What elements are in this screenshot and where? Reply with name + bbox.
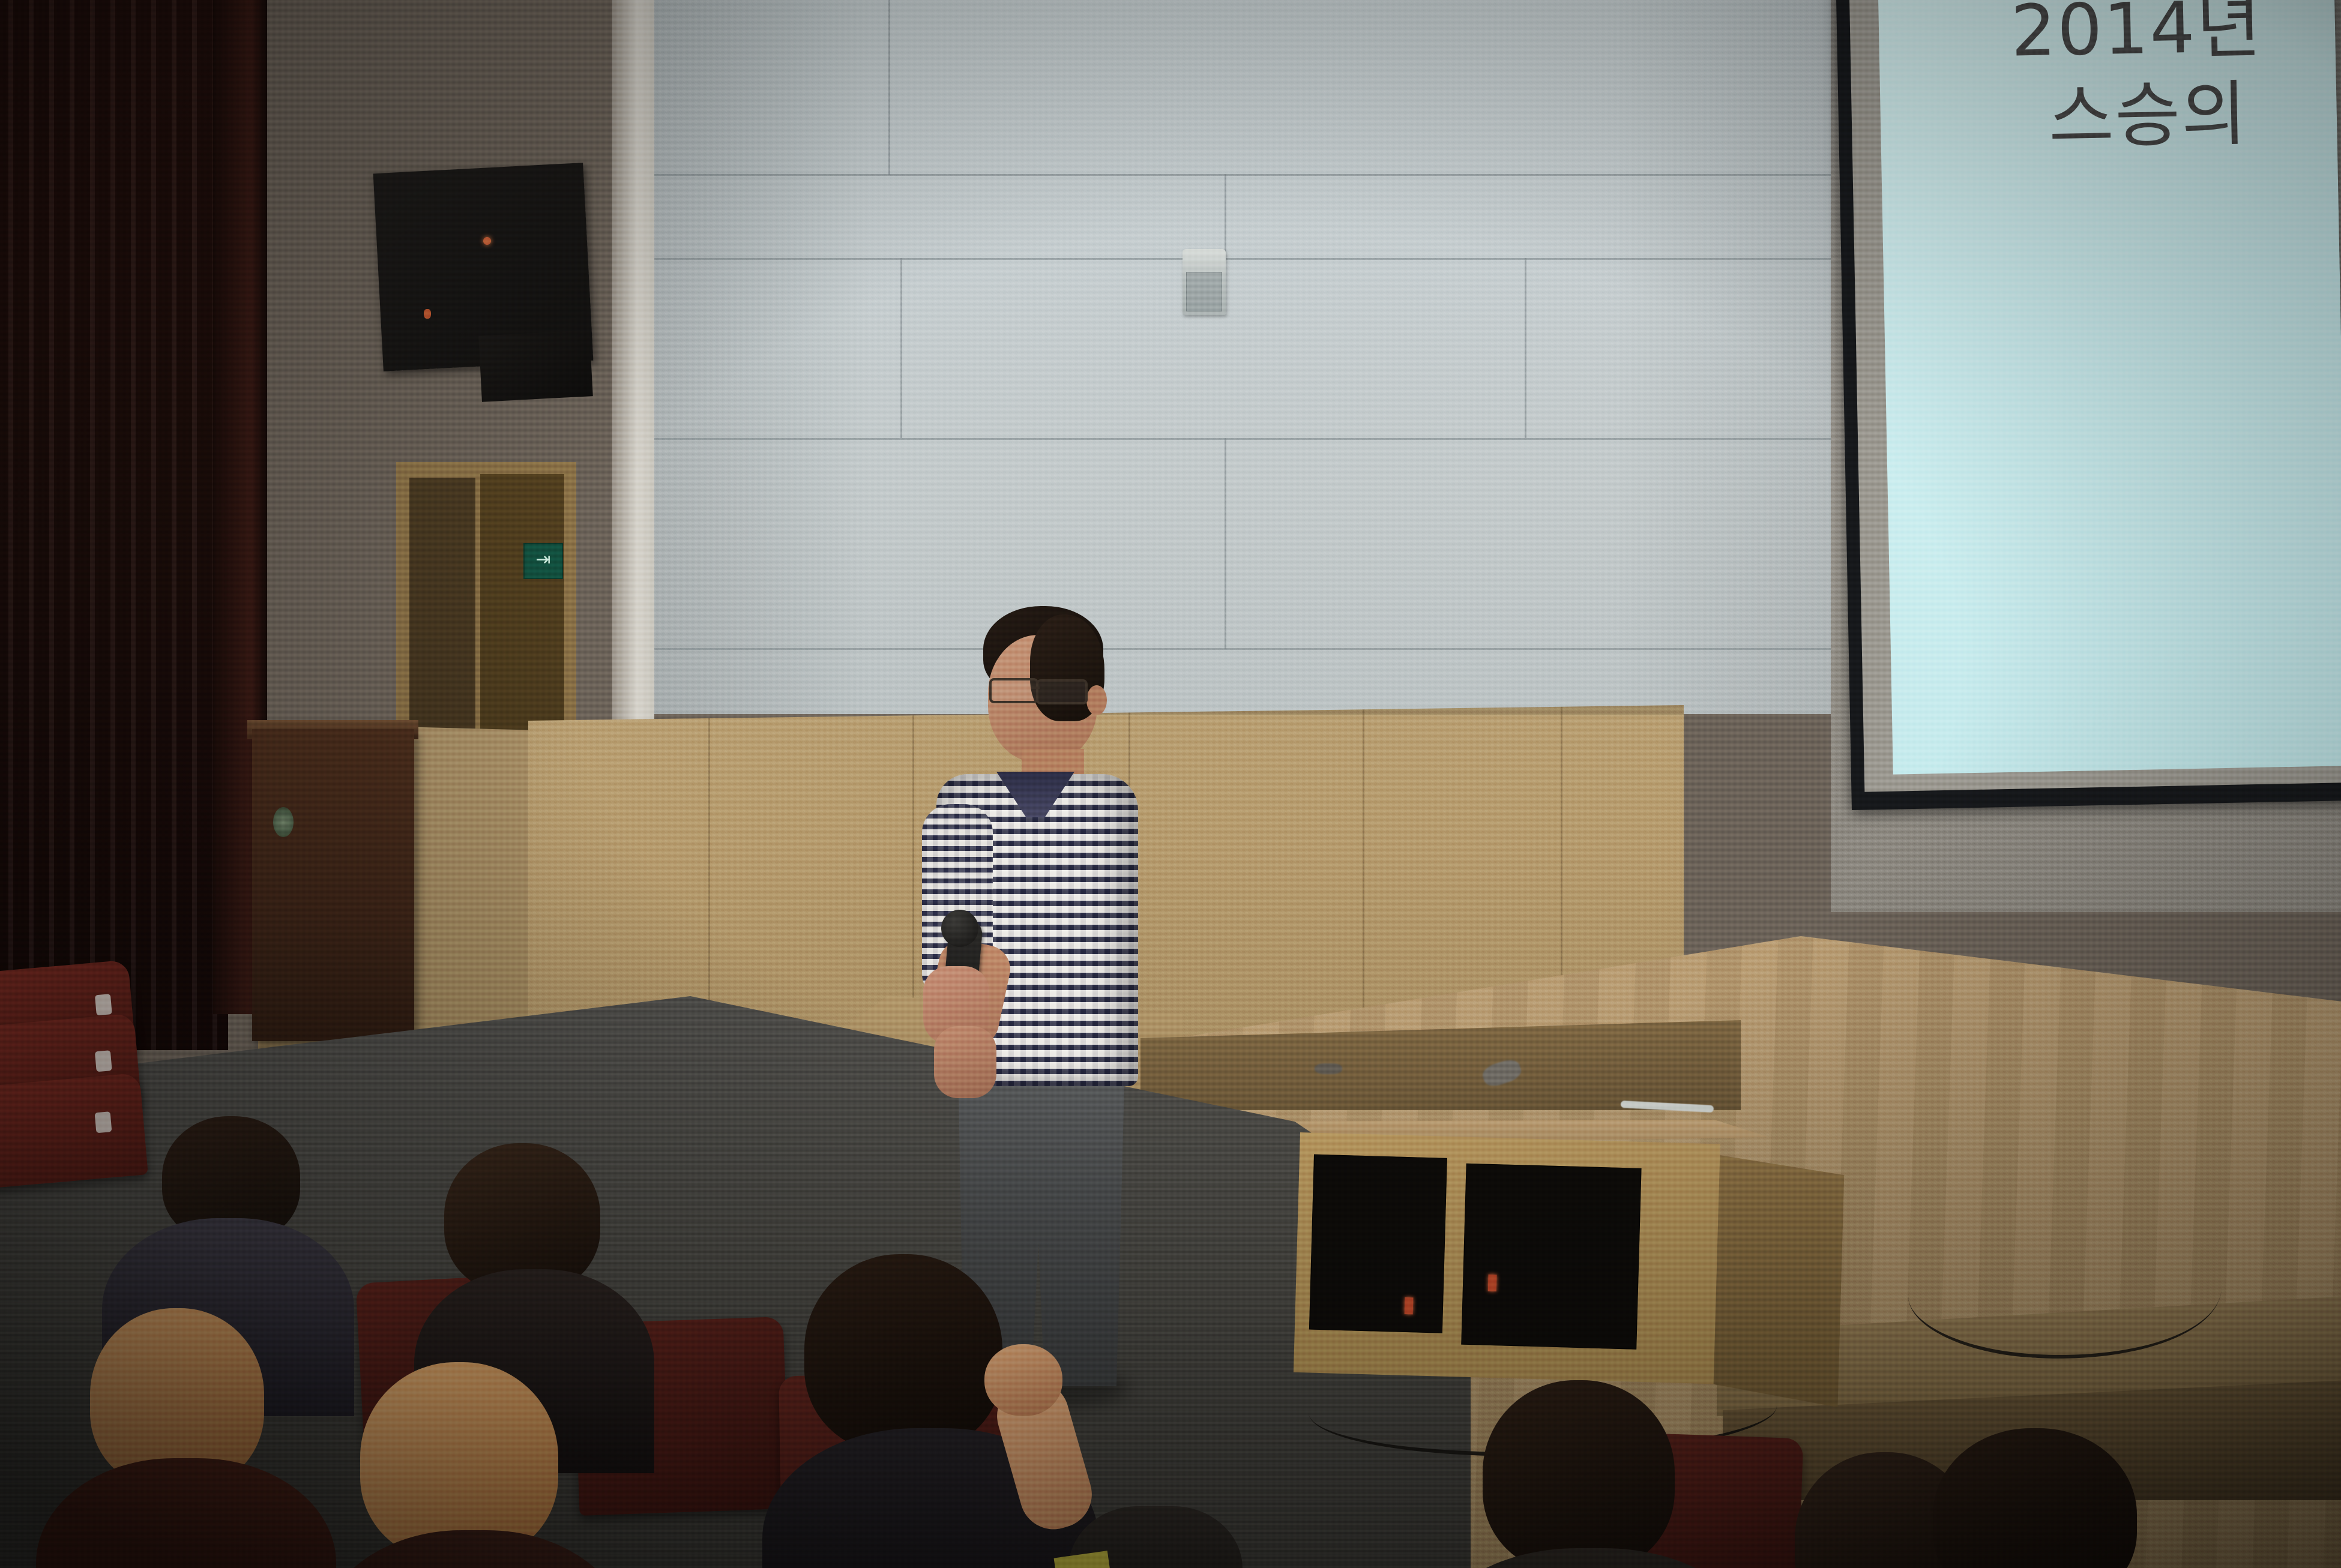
microphone-head <box>941 910 978 947</box>
presenter-ear <box>1086 685 1107 715</box>
stage-object-small <box>1315 1063 1342 1074</box>
auditorium-photo: 2014년 스승의 ⇥ <box>0 0 2341 1568</box>
wall-left-strip <box>612 0 654 738</box>
lectern[interactable] <box>252 729 414 1041</box>
wall-sensor-fixture <box>1183 249 1226 315</box>
stage-curtain <box>0 0 228 1050</box>
av-cabinet-door-left[interactable] <box>1309 1155 1447 1333</box>
exit-sign-glyph: ⇥ <box>525 544 562 575</box>
slide-line-2: 스승의 <box>1957 65 2341 165</box>
upper-block-wall <box>648 0 1885 714</box>
projection-screen-frame: 2014년 스승의 <box>1836 0 2341 810</box>
speaker-indicator-led <box>483 237 491 245</box>
slide-line-1: 2014년 <box>1956 0 2341 73</box>
wall-speaker-bracket <box>478 330 593 402</box>
sensor-lens <box>1186 272 1222 311</box>
av-cabinet-led-left <box>1405 1297 1414 1314</box>
slide-text: 2014년 스승의 <box>1956 0 2341 165</box>
projection-screen-surface[interactable]: 2014년 스승의 <box>1878 0 2341 775</box>
presenter-glasses-bridge <box>1031 686 1040 689</box>
presenter-glasses-left-lens <box>989 678 1038 703</box>
seat-row-3[interactable] <box>0 1073 148 1190</box>
av-cabinet-door-right[interactable] <box>1461 1164 1641 1350</box>
exit-sign: ⇥ <box>523 543 563 579</box>
presenter-glasses-right-lens <box>1036 679 1088 704</box>
speaker-indicator-led-lower <box>424 309 431 319</box>
av-cabinet-led-right <box>1488 1275 1497 1291</box>
lectern-emblem <box>273 807 294 837</box>
presenter-hand-lower <box>934 1026 996 1098</box>
